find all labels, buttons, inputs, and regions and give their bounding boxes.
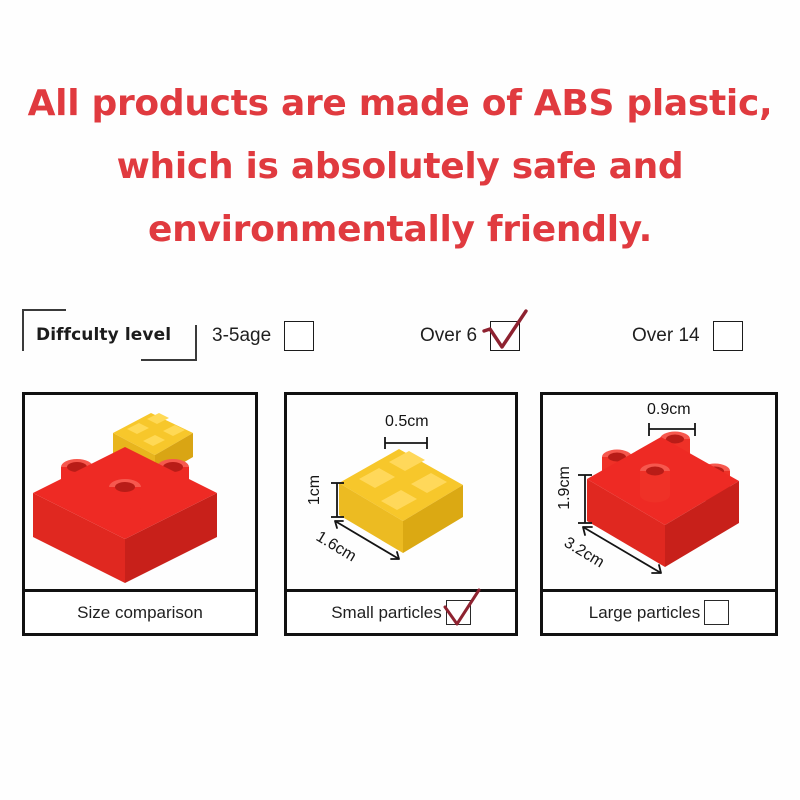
age-checkbox-unchecked[interactable] (284, 321, 314, 351)
dimension-label-stud-width: 0.9cm (647, 401, 691, 419)
panel-checkbox-unchecked[interactable] (704, 600, 729, 625)
age-option-label: Over 6 (420, 325, 477, 347)
checkmark-icon (482, 309, 530, 353)
dimension-label-stud-width: 0.5cm (385, 413, 429, 431)
product-panels-row: Size comparison (0, 392, 800, 636)
red-brick-illustration (587, 432, 739, 568)
dimension-stud-width-leader (385, 437, 427, 449)
dimension-label-height: 1.9cm (556, 465, 574, 511)
headline-line-3: environmentally friendly. (0, 198, 800, 261)
figure-small-particles: 0.5cm 1cm 1.6cm (287, 395, 515, 589)
age-option-3-5age[interactable]: 3-5age (212, 321, 314, 351)
dimension-label-height: 1cm (306, 470, 324, 510)
caption-small-particles: Small particles (287, 589, 515, 633)
panel-checkbox-checked[interactable] (446, 600, 471, 625)
headline-line-1: All products are made of ABS plastic, (0, 72, 800, 135)
age-checkbox-checked[interactable] (490, 321, 520, 351)
age-checkbox-unchecked[interactable] (713, 321, 743, 351)
panel-caption-label: Small particles (331, 603, 442, 623)
yellow-brick-illustration (339, 449, 463, 553)
checkmark-icon (443, 588, 483, 628)
caption-size-comparison: Size comparison (25, 589, 255, 633)
infographic-page: All products are made of ABS plastic, wh… (0, 0, 800, 800)
age-option-over-14[interactable]: Over 14 (632, 321, 743, 351)
panel-caption-label: Size comparison (77, 603, 203, 623)
headline-block: All products are made of ABS plastic, wh… (0, 72, 800, 261)
age-option-label: Over 14 (632, 325, 700, 347)
panel-caption-label: Large particles (589, 603, 701, 623)
panel-small-particles[interactable]: 0.5cm 1cm 1.6cm Small particles (284, 392, 518, 636)
panel-size-comparison[interactable]: Size comparison (22, 392, 258, 636)
age-option-label: 3-5age (212, 325, 271, 347)
difficulty-label-group: Diffculty level (22, 309, 197, 361)
figure-large-particles: 0.9cm 1.9cm 3.2cm (543, 395, 775, 589)
red-brick-large-illustration (33, 447, 217, 583)
figure-size-comparison (25, 395, 255, 589)
age-option-over-6[interactable]: Over 6 (420, 321, 520, 351)
headline-line-2: which is absolutely safe and (0, 135, 800, 198)
difficulty-level-label: Diffculty level (36, 325, 171, 345)
panel-large-particles[interactable]: 0.9cm 1.9cm 3.2cm Large particles (540, 392, 778, 636)
caption-large-particles: Large particles (543, 589, 775, 633)
difficulty-level-row: Diffculty level 3-5age Over 6 Over 14 (0, 305, 800, 367)
